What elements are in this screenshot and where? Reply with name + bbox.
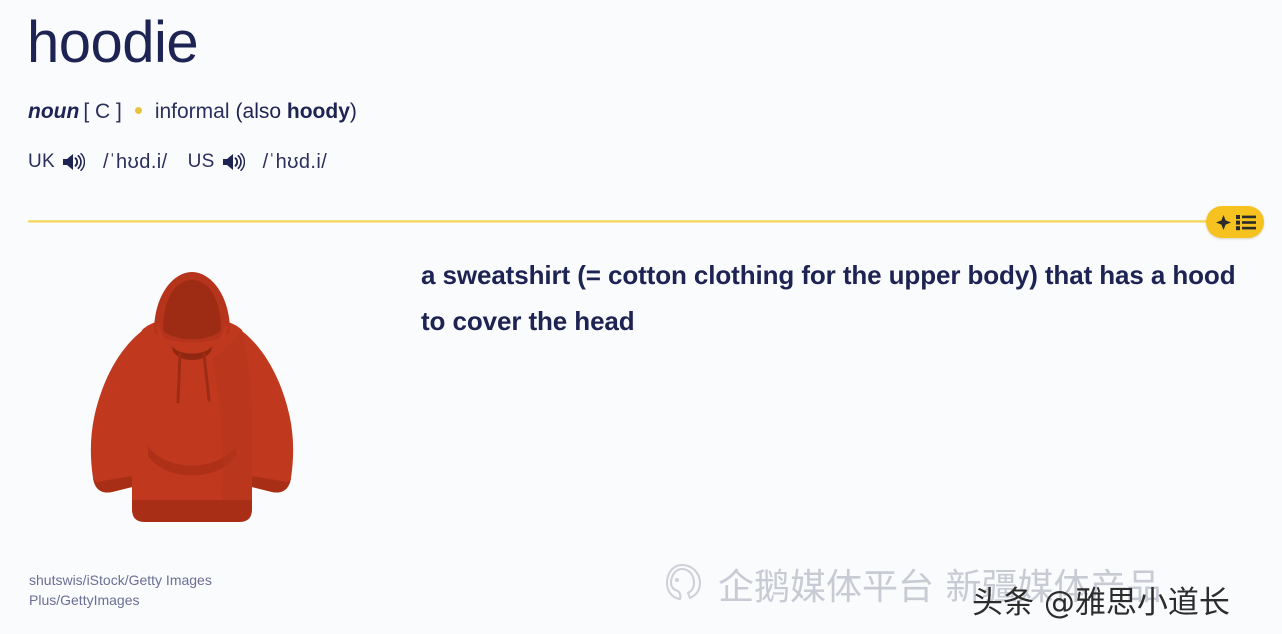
speaker-icon-us[interactable] [221,151,245,173]
penguin-icon [660,560,704,616]
variant-word: hoody [287,100,350,123]
ipa-us: /ˈhʊd.i/ [263,148,328,176]
part-of-speech-line: noun[ C ]informal(also hoody) [28,97,357,127]
plus-icon [1215,214,1232,231]
variant-suffix: ) [350,100,357,123]
pronunciation-region-us: US [188,148,215,176]
pronunciation-line: UK /ˈhʊd.i/ US /ˈhʊd.i/ [28,148,331,176]
grammar-label: [ C ] [83,100,122,123]
part-of-speech-label: noun [28,100,79,123]
register-label: informal [155,100,230,123]
attribution-line-1: shutswis/iStock/Getty Images [29,570,212,590]
add-to-wordlist-button[interactable] [1206,206,1264,238]
list-icon [1236,214,1256,231]
variant-form: (also hoody) [236,100,357,123]
watermark-faint-text: 企鹅媒体平台 新疆媒体产品 [718,565,1161,611]
attribution-line-2: Plus/GettyImages [29,590,212,610]
section-divider [28,220,1208,223]
page-title: hoodie [27,8,198,78]
image-attribution: shutswis/iStock/Getty Images Plus/GettyI… [29,570,212,610]
hoodie-graphic [91,272,293,522]
variant-prefix: (also [236,100,287,123]
pronunciation-region-uk: UK [28,148,55,176]
speaker-icon-uk[interactable] [61,151,85,173]
watermark-faint: 企鹅媒体平台 新疆媒体产品 [660,560,1161,616]
entry-illustration [62,250,322,550]
ipa-uk: /ˈhʊd.i/ [103,148,168,176]
watermark-dark: 头条 @雅思小道长 [972,583,1230,623]
dictionary-entry-page: hoodie noun[ C ]informal(also hoody) UK … [0,0,1282,634]
definition-text: a sweatshirt (= cotton clothing for the … [421,252,1241,344]
separator-dot-icon [135,107,142,114]
